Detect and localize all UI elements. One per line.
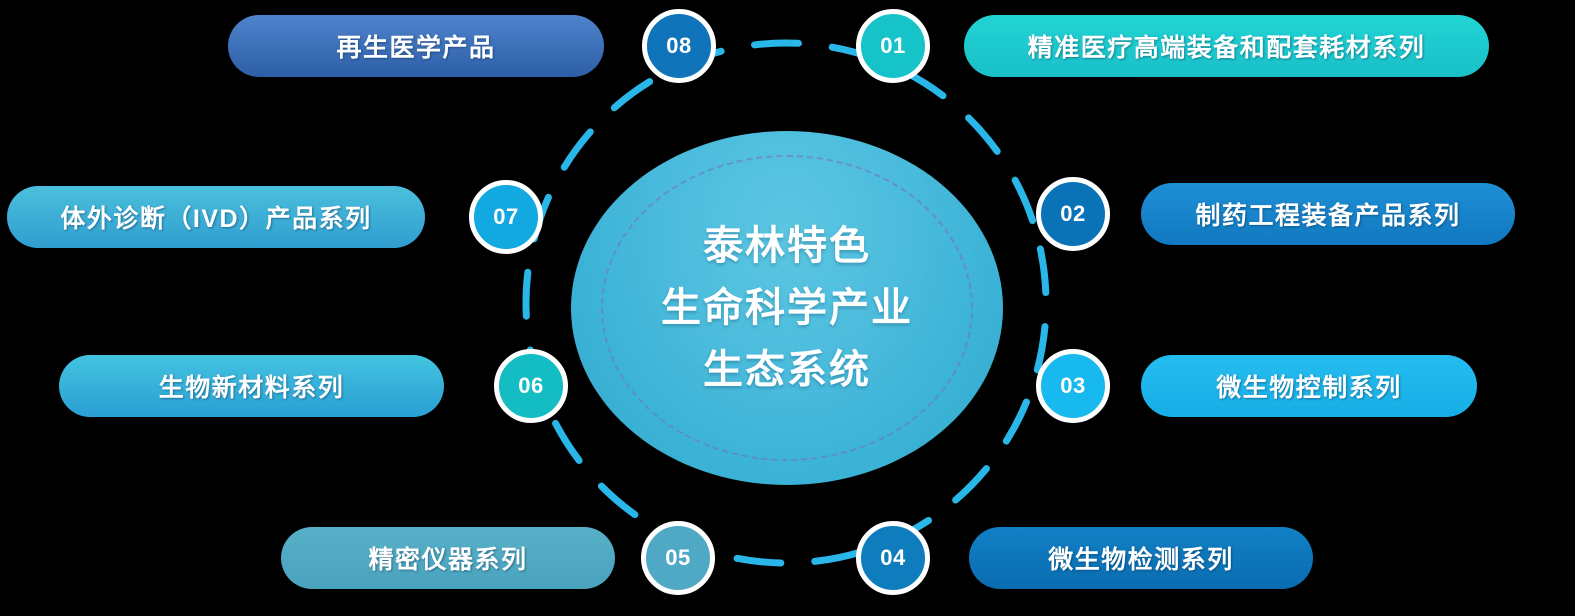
pill-label-02[interactable]: 制药工程装备产品系列	[1141, 183, 1515, 245]
pill-label-05[interactable]: 精密仪器系列	[281, 527, 615, 589]
badge-02[interactable]: 02	[1036, 177, 1110, 251]
center-hub: 泰林特色 生命科学产业 生态系统	[571, 131, 1003, 485]
center-title-line-2: 生命科学产业	[661, 288, 913, 328]
pill-label-08-text: 再生医学产品	[336, 28, 495, 64]
badge-01-number: 01	[880, 35, 905, 57]
badge-02-number: 02	[1060, 203, 1085, 225]
pill-label-06[interactable]: 生物新材料系列	[59, 355, 444, 417]
badge-03[interactable]: 03	[1036, 349, 1110, 423]
badge-01[interactable]: 01	[856, 9, 930, 83]
badge-04-number: 04	[880, 547, 905, 569]
badge-04[interactable]: 04	[856, 521, 930, 595]
badge-06-number: 06	[518, 375, 543, 397]
pill-label-04-text: 微生物检测系列	[1048, 540, 1234, 576]
pill-label-04[interactable]: 微生物检测系列	[969, 527, 1313, 589]
pill-label-01-text: 精准医疗高端装备和配套耗材系列	[1028, 28, 1426, 64]
badge-06[interactable]: 06	[494, 349, 568, 423]
pill-label-06-text: 生物新材料系列	[159, 368, 345, 404]
pill-label-03[interactable]: 微生物控制系列	[1141, 355, 1477, 417]
diagram-canvas: 泰林特色 生命科学产业 生态系统 01 精准医疗高端装备和配套耗材系列 02 制…	[0, 0, 1575, 616]
center-title-line-3: 生态系统	[703, 350, 871, 390]
pill-label-07-text: 体外诊断（IVD）产品系列	[60, 199, 371, 235]
pill-label-05-text: 精密仪器系列	[368, 540, 527, 576]
badge-08[interactable]: 08	[642, 9, 716, 83]
badge-07-number: 07	[493, 206, 518, 228]
badge-07[interactable]: 07	[469, 180, 543, 254]
pill-label-07[interactable]: 体外诊断（IVD）产品系列	[7, 186, 425, 248]
badge-03-number: 03	[1060, 375, 1085, 397]
pill-label-03-text: 微生物控制系列	[1216, 368, 1402, 404]
badge-08-number: 08	[666, 35, 691, 57]
center-title-line-1: 泰林特色	[703, 226, 871, 266]
badge-05-number: 05	[665, 547, 690, 569]
pill-label-01[interactable]: 精准医疗高端装备和配套耗材系列	[964, 15, 1489, 77]
pill-label-08[interactable]: 再生医学产品	[228, 15, 604, 77]
badge-05[interactable]: 05	[641, 521, 715, 595]
pill-label-02-text: 制药工程装备产品系列	[1195, 196, 1460, 232]
